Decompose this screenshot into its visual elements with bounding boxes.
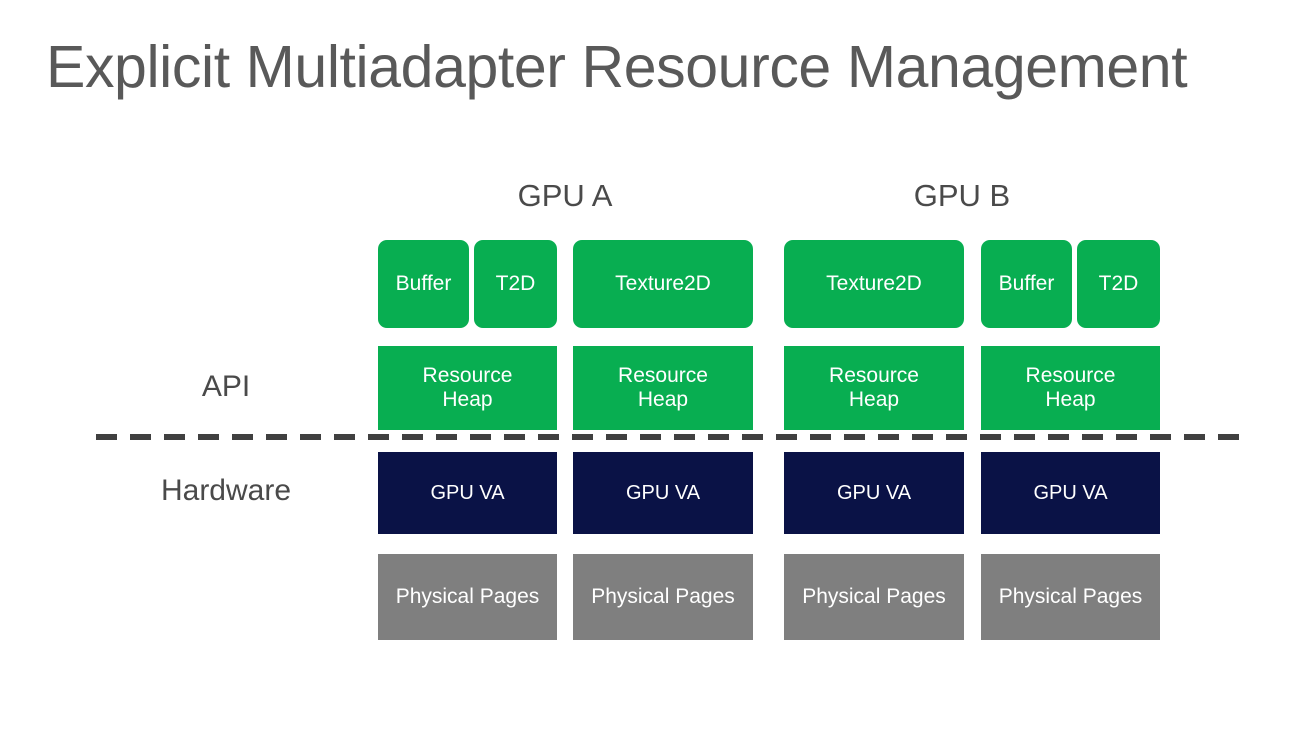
physical-pages-box: Physical Pages — [981, 554, 1160, 640]
api-hardware-divider — [96, 434, 1242, 440]
column-header-gpu-a: GPU A — [465, 180, 665, 211]
resource-object-box: T2D — [474, 240, 557, 328]
physical-pages-box: Physical Pages — [378, 554, 557, 640]
column-header-gpu-b: GPU B — [862, 180, 1062, 211]
gpu-va-box: GPU VA — [573, 452, 753, 534]
layer-label-hardware: Hardware — [96, 476, 356, 506]
resource-object-box: Texture2D — [573, 240, 753, 328]
gpu-va-box: GPU VA — [981, 452, 1160, 534]
slide-canvas: Explicit Multiadapter Resource Managemen… — [0, 0, 1305, 734]
resource-heap-box: ResourceHeap — [981, 346, 1160, 430]
layer-label-api: API — [96, 372, 356, 402]
gpu-va-box: GPU VA — [378, 452, 557, 534]
resource-heap-box: ResourceHeap — [573, 346, 753, 430]
physical-pages-box: Physical Pages — [573, 554, 753, 640]
resource-heap-box: ResourceHeap — [784, 346, 964, 430]
resource-object-box: Texture2D — [784, 240, 964, 328]
resource-object-box: Buffer — [981, 240, 1072, 328]
resource-heap-box: ResourceHeap — [378, 346, 557, 430]
gpu-va-box: GPU VA — [784, 452, 964, 534]
physical-pages-box: Physical Pages — [784, 554, 964, 640]
resource-object-box: T2D — [1077, 240, 1160, 328]
resource-object-box: Buffer — [378, 240, 469, 328]
page-title: Explicit Multiadapter Resource Managemen… — [46, 34, 1187, 102]
